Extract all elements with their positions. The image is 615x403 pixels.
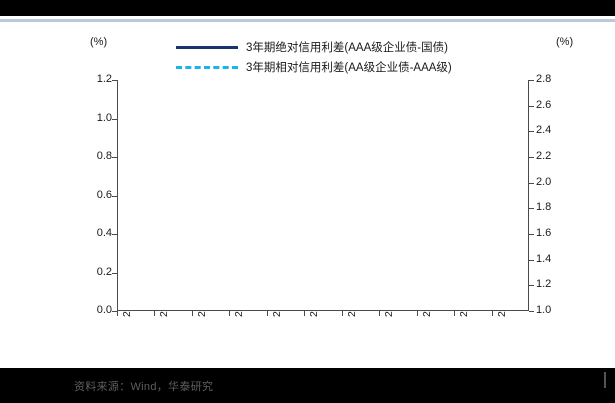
y-axis-right-line [528, 80, 529, 311]
y-tick-right: 2.2 [536, 150, 570, 162]
x-axis-line [117, 310, 529, 311]
y-tick-right: 2.8 [536, 73, 570, 85]
legend-swatch-navy-solid [176, 46, 238, 49]
legend-label-absolute-spread: 3年期绝对信用利差(AAA级企业债-国债) [246, 39, 448, 55]
x-tick-mark [117, 311, 118, 316]
y-tick-left: 0.4 [78, 227, 112, 239]
y-tick-mark-right [529, 157, 534, 158]
y-tick-left: 0.8 [78, 150, 112, 162]
x-tick-mark [379, 311, 380, 316]
y-tick-right: 2.0 [536, 176, 570, 188]
plot-background [117, 80, 529, 311]
y-tick-right: 1.8 [536, 201, 570, 213]
right-axis-unit-label: (%) [556, 36, 573, 48]
y-tick-mark-right [529, 208, 534, 209]
y-tick-left: 1.0 [78, 112, 112, 124]
y-tick-mark-right [529, 311, 534, 312]
y-tick-left: 0.6 [78, 189, 112, 201]
y-tick-right: 1.6 [536, 227, 570, 239]
x-tick-mark [304, 311, 305, 316]
y-tick-left: 0.2 [78, 266, 112, 278]
plot-area [117, 80, 529, 311]
y-tick-left: 0.0 [78, 304, 112, 316]
x-tick-mark [342, 311, 343, 316]
x-tick-mark [192, 311, 193, 316]
left-axis-unit-label: (%) [90, 36, 107, 48]
x-tick-mark [267, 311, 268, 316]
y-tick-mark-right [529, 106, 534, 107]
y-tick-mark-right [529, 285, 534, 286]
y-tick-mark-right [529, 183, 534, 184]
y-tick-right: 2.4 [536, 124, 570, 136]
legend-label-relative-spread: 3年期相对信用利差(AA级企业债-AAA级) [246, 59, 452, 75]
page-edge-mark [604, 372, 606, 388]
y-axis-left-line [117, 80, 118, 311]
y-tick-mark-right [529, 131, 534, 132]
y-tick-left: 1.2 [78, 73, 112, 85]
y-tick-right: 2.6 [536, 99, 570, 111]
y-tick-right: 1.0 [536, 304, 570, 316]
source-note: 资料来源：Wind，华泰研究 [74, 378, 213, 394]
chart-figure: (%) (%) 3年期绝对信用利差(AAA级企业债-国债) 3年期相对信用利差(… [0, 22, 615, 368]
legend-item-absolute-spread: 3年期绝对信用利差(AAA级企业债-国债) [176, 37, 506, 57]
figure-footer: 资料来源：Wind，华泰研究 [0, 374, 615, 403]
x-tick-mark [454, 311, 455, 316]
legend-swatch-cyan-dashed [176, 66, 238, 69]
x-tick-mark [417, 311, 418, 316]
x-tick-mark [229, 311, 230, 316]
x-tick-mark [154, 311, 155, 316]
y-tick-mark-right [529, 260, 534, 261]
y-tick-right: 1.2 [536, 278, 570, 290]
x-tick-mark [492, 311, 493, 316]
y-tick-mark-right [529, 80, 534, 81]
y-tick-mark-right [529, 234, 534, 235]
legend-item-relative-spread: 3年期相对信用利差(AA级企业债-AAA级) [176, 57, 506, 77]
y-tick-right: 1.4 [536, 253, 570, 265]
